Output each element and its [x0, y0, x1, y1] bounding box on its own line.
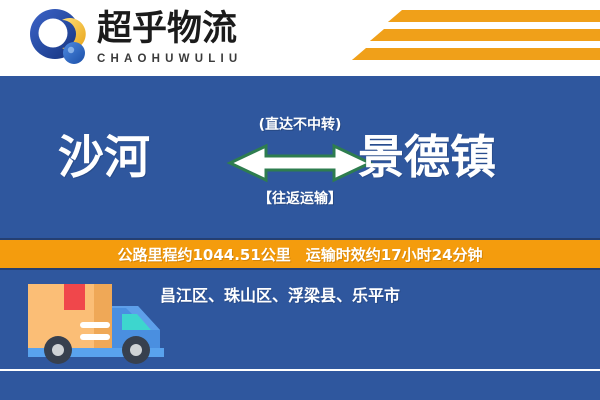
- service-areas-panel: 昌江区、珠山区、浮梁县、乐平市: [0, 270, 600, 400]
- brand-name-cn: 超乎物流: [97, 9, 267, 49]
- route-middle-group: (直达不中转) 【往返运输】: [226, 114, 374, 224]
- round-trip-note: 【往返运输】: [226, 188, 374, 208]
- destination-city: 景德镇: [358, 132, 496, 182]
- decorative-stripe-middle: [370, 29, 600, 41]
- direct-service-note: (直达不中转): [226, 114, 374, 134]
- decorative-stripe-bottom: [352, 48, 600, 60]
- route-panel: 沙河 (直达不中转) 【往返运输】 景德镇: [0, 76, 600, 238]
- brand-block: 超乎物流 CHAOHUWULIU: [97, 9, 267, 66]
- chaohu-logo-circle-icon: [28, 8, 90, 68]
- distance-duration-text: 公路里程约1044.51公里 运输时效约17小时24分钟: [117, 244, 482, 265]
- double-headed-arrow-icon: [226, 142, 374, 184]
- ground-line: [0, 369, 600, 371]
- header: 超乎物流 CHAOHUWULIU: [0, 0, 600, 76]
- delivery-truck-icon: [18, 278, 178, 372]
- brand-name-en: CHAOHUWULIU: [97, 52, 267, 66]
- origin-city: 沙河: [58, 132, 150, 182]
- logistics-route-banner: 超乎物流 CHAOHUWULIU 沙河 (直达不中转) 【往返运输】 景德镇 公…: [0, 0, 600, 400]
- distance-duration-bar: 公路里程约1044.51公里 运输时效约17小时24分钟: [0, 238, 600, 270]
- service-areas-text: 昌江区、珠山区、浮梁县、乐平市: [160, 282, 400, 306]
- decorative-stripe-top: [388, 10, 600, 22]
